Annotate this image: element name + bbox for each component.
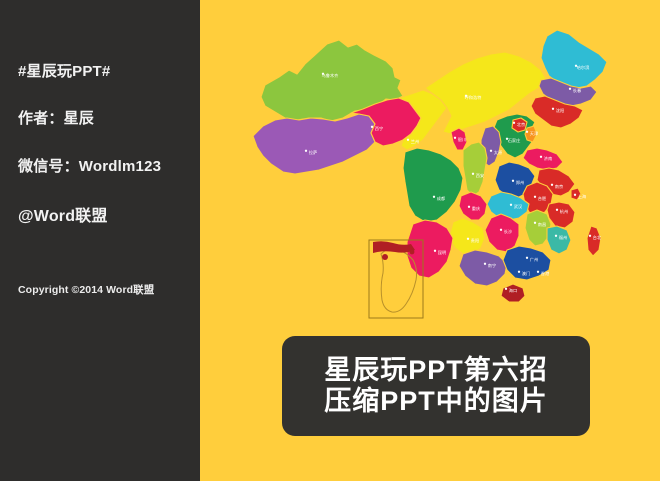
city-label: 上海 <box>578 193 587 200</box>
city-marker-dot <box>434 250 436 252</box>
city-marker-dot <box>551 184 553 186</box>
city-label: 长沙 <box>504 228 513 235</box>
city-marker-dot <box>433 196 435 198</box>
city-label: 贵阳 <box>471 237 479 244</box>
city-label: 合肥 <box>538 195 547 202</box>
city-label: 哈尔滨 <box>577 64 590 71</box>
city-marker-dot <box>500 229 502 231</box>
city-marker-dot <box>534 222 536 224</box>
city-marker-dot <box>534 196 536 198</box>
title-line-1: 星辰玩PPT第六招 <box>324 355 548 386</box>
city-label: 郑州 <box>516 179 524 186</box>
province-hubei <box>487 192 529 220</box>
city-label: 澳门 <box>522 270 530 277</box>
province-shaanxi <box>463 142 487 196</box>
city-marker-dot <box>540 156 542 158</box>
city-marker-dot <box>490 150 492 152</box>
city-marker-dot <box>305 150 307 152</box>
city-label: 重庆 <box>472 205 481 212</box>
city-marker-dot <box>526 257 528 259</box>
city-label: 长春 <box>573 87 582 94</box>
sidebar-copyright: Copyright ©2014 Word联盟 <box>18 282 154 297</box>
city-label: 武汉 <box>514 203 523 210</box>
province-taiwan <box>587 226 601 256</box>
china-map-svg: 乌鲁木齐拉萨西宁兰州呼和浩特哈尔滨长春沈阳石家庄北京天津太原银川西安济南郑州南京… <box>235 14 655 334</box>
sidebar-author: 作者：星辰 <box>18 107 94 128</box>
slide-canvas: #星辰玩PPT# 作者：星辰 微信号：Wordlm123 @Word联盟 Cop… <box>0 0 660 481</box>
city-marker-dot <box>484 263 486 265</box>
city-marker-dot <box>526 131 528 133</box>
city-label: 济南 <box>544 155 552 162</box>
sidebar-panel: #星辰玩PPT# 作者：星辰 微信号：Wordlm123 @Word联盟 Cop… <box>0 0 200 481</box>
city-marker-dot <box>555 235 557 237</box>
city-label: 北京 <box>517 121 525 128</box>
title-line-2: 压缩PPT中的图片 <box>324 386 548 417</box>
sidebar-weibo-handle: @Word联盟 <box>18 202 108 226</box>
city-marker-dot <box>537 271 539 273</box>
city-label: 福州 <box>559 234 567 241</box>
city-label: 太原 <box>494 149 502 156</box>
city-label: 西宁 <box>375 125 383 132</box>
city-marker-dot <box>468 206 470 208</box>
city-marker-dot <box>574 194 576 196</box>
province-hainan <box>501 284 525 302</box>
title-plate: 星辰玩PPT第六招 压缩PPT中的图片 <box>282 336 590 436</box>
city-label: 杭州 <box>560 208 568 215</box>
city-marker-dot <box>589 235 591 237</box>
city-marker-dot <box>510 204 512 206</box>
city-label: 拉萨 <box>309 149 317 156</box>
city-label: 石家庄 <box>508 137 521 144</box>
city-label: 台北 <box>593 234 602 241</box>
province-guizhou <box>449 218 485 254</box>
city-marker-dot <box>552 108 554 110</box>
city-label: 呼和浩特 <box>465 94 482 101</box>
city-label: 兰州 <box>411 138 419 144</box>
sidebar-wechat-id: 微信号：Wordlm123 <box>18 155 161 176</box>
province-guangxi <box>459 250 507 286</box>
province-tibet <box>253 114 375 174</box>
province-sichuan <box>403 148 463 222</box>
city-label: 香港 <box>541 270 550 277</box>
city-marker-dot <box>512 180 514 182</box>
city-marker-dot <box>467 238 469 240</box>
city-label: 海口 <box>509 287 517 294</box>
province-fujian <box>547 226 571 254</box>
city-marker-dot <box>371 126 373 128</box>
city-marker-dot <box>472 173 474 175</box>
city-label: 西安 <box>476 172 484 179</box>
city-marker-dot <box>513 122 515 124</box>
sidebar-hashtag: #星辰玩PPT# <box>18 60 110 81</box>
city-label: 南宁 <box>488 262 496 268</box>
city-label: 银川 <box>458 136 466 143</box>
map-provinces <box>253 30 607 302</box>
city-label: 成都 <box>437 195 446 202</box>
city-marker-dot <box>518 271 520 273</box>
city-label: 天津 <box>530 130 538 137</box>
city-marker-dot <box>454 137 456 139</box>
city-label: 南昌 <box>538 221 546 228</box>
province-hunan <box>485 214 519 252</box>
city-label: 乌鲁木齐 <box>322 72 340 79</box>
city-label: 广州 <box>530 256 538 263</box>
city-label: 南京 <box>555 183 563 190</box>
city-marker-dot <box>505 288 507 290</box>
city-marker-dot <box>569 88 571 90</box>
city-marker-dot <box>556 209 558 211</box>
city-marker-dot <box>407 139 409 141</box>
city-label: 沈阳 <box>556 107 564 114</box>
